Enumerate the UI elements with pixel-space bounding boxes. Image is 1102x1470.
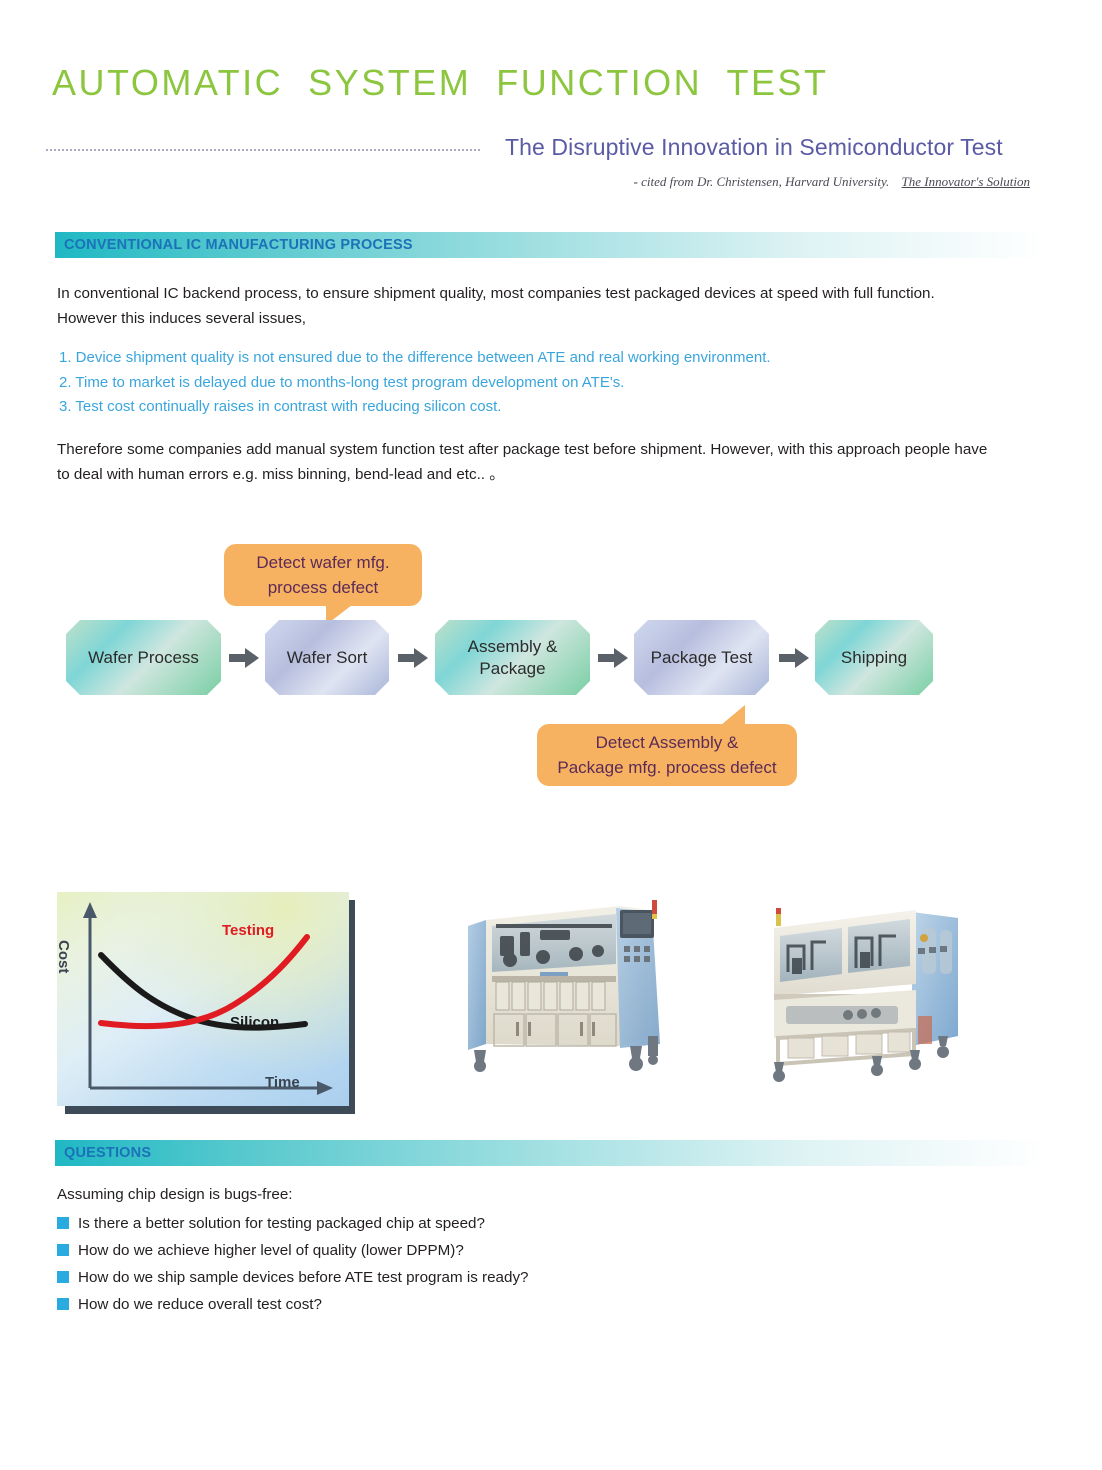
square-bullet-icon <box>57 1244 69 1256</box>
callout-wafer-line1: Detect wafer mfg. <box>256 550 389 575</box>
page-root: AUTOMATIC SYSTEM FUNCTION TEST The Disru… <box>0 0 1102 1470</box>
square-bullet-icon <box>57 1298 69 1310</box>
chart-x-axis-label: Time <box>265 1074 300 1091</box>
issue-item: 1. Device shipment quality is not ensure… <box>59 346 959 371</box>
list-item: How do we ship sample devices before ATE… <box>57 1264 957 1291</box>
flow-step-label: Wafer Process <box>82 647 205 669</box>
callout-tail-icon <box>721 705 745 725</box>
issue-item: 3. Test cost continually raises in contr… <box>59 395 959 420</box>
chart-series-label-testing: Testing <box>222 922 274 939</box>
flow-step-wafer-process[interactable]: Wafer Process <box>66 620 221 695</box>
issues-list: 1. Device shipment quality is not ensure… <box>59 346 959 420</box>
citation-text: cited from Dr. Christensen, Harvard Univ… <box>641 174 889 189</box>
flow-step-shipping[interactable]: Shipping <box>815 620 933 695</box>
cost-vs-time-chart: Cost Time Testing Silicon <box>57 892 355 1114</box>
chart-plot-area: Cost Time Testing Silicon <box>57 892 349 1106</box>
chart-series-label-silicon: Silicon <box>230 1014 279 1031</box>
chart-svg <box>57 892 349 1106</box>
test-handler-machine-2 <box>752 896 982 1086</box>
callout-wafer-line2: process defect <box>256 575 389 600</box>
section-header-conventional: CONVENTIONAL IC MANUFACTURING PROCESS <box>55 232 1045 258</box>
callout-wafer-defect: Detect wafer mfg. process defect <box>224 544 422 606</box>
list-item: How do we achieve higher level of qualit… <box>57 1237 957 1264</box>
questions-list: Is there a better solution for testing p… <box>57 1210 957 1318</box>
chart-y-axis-label: Cost <box>57 940 72 973</box>
section-header-conventional-label: CONVENTIONAL IC MANUFACTURING PROCESS <box>64 237 413 253</box>
section-header-questions-label: QUESTIONS <box>64 1145 151 1161</box>
test-handler-machine-1 <box>448 896 678 1086</box>
page-subtitle: The Disruptive Innovation in Semiconduct… <box>505 134 1003 161</box>
flow-step-label: Shipping <box>835 647 913 669</box>
flow-arrow-icon <box>398 648 428 668</box>
flow-step-wafer-sort[interactable]: Wafer Sort <box>265 620 389 695</box>
therefore-paragraph: Therefore some companies add manual syst… <box>57 437 992 487</box>
question-text: Is there a better solution for testing p… <box>78 1210 485 1237</box>
flow-step-label: Assembly & Package <box>435 636 590 680</box>
title-divider <box>46 149 482 151</box>
question-text: How do we ship sample devices before ATE… <box>78 1264 529 1291</box>
intro-paragraph: In conventional IC backend process, to e… <box>57 281 992 331</box>
list-item: Is there a better solution for testing p… <box>57 1210 957 1237</box>
callout-assembly-line2: Package mfg. process defect <box>557 755 776 780</box>
square-bullet-icon <box>57 1271 69 1283</box>
flow-arrow-icon <box>779 648 809 668</box>
flow-arrow-icon <box>229 648 259 668</box>
citation-book-title: The Innovator's Solution <box>902 174 1030 189</box>
callout-assembly-line1: Detect Assembly & <box>557 730 776 755</box>
citation-line: - cited from Dr. Christensen, Harvard Un… <box>634 174 1030 190</box>
flow-step-assembly-package[interactable]: Assembly & Package <box>435 620 590 695</box>
citation-dash: - <box>634 174 638 189</box>
flow-step-label: Wafer Sort <box>281 647 374 669</box>
question-text: How do we achieve higher level of qualit… <box>78 1237 464 1264</box>
section-header-questions: QUESTIONS <box>55 1140 1045 1166</box>
square-bullet-icon <box>57 1217 69 1229</box>
flow-arrow-icon <box>598 648 628 668</box>
process-flow-diagram: Detect wafer mfg. process defect Wafer P… <box>0 520 1102 820</box>
list-item: How do we reduce overall test cost? <box>57 1291 957 1318</box>
issue-item: 2. Time to market is delayed due to mont… <box>59 371 959 396</box>
page-title: AUTOMATIC SYSTEM FUNCTION TEST <box>52 62 829 104</box>
callout-assembly-defect: Detect Assembly & Package mfg. process d… <box>537 724 797 786</box>
flow-step-package-test[interactable]: Package Test <box>634 620 769 695</box>
flow-step-label: Package Test <box>645 647 759 669</box>
question-text: How do we reduce overall test cost? <box>78 1291 322 1318</box>
questions-intro: Assuming chip design is bugs-free: <box>57 1186 293 1203</box>
